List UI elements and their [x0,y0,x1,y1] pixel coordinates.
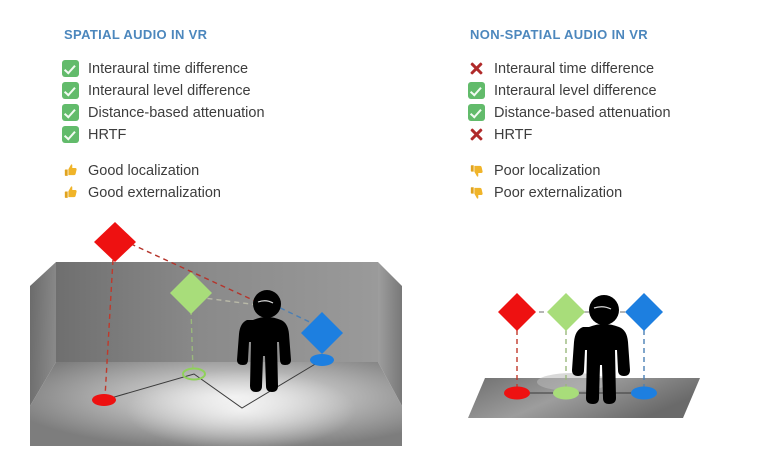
verdict-label: Poor externalization [494,185,622,201]
red-footprint [92,394,116,406]
cross-icon [468,126,485,143]
blue-footprint [310,354,334,366]
green-source-diamond [547,293,585,331]
list-item: Poor localization [468,160,622,181]
check-icon [468,82,485,99]
verdict-label: Good localization [88,163,199,179]
list-item: Good externalization [62,182,221,203]
feature-label: Interaural time difference [88,61,248,77]
feature-label: Interaural level difference [494,83,657,99]
red-source-diamond [94,222,136,262]
list-item: Interaural time difference [468,58,671,79]
non-spatial-plane-diagram [455,270,725,435]
feature-label: Interaural level difference [88,83,251,99]
thumbs-up-icon [62,162,79,179]
non-spatial-feature-list: Interaural time difference Interaural le… [468,58,671,146]
red-source-diamond [498,293,536,331]
list-item: Good localization [62,160,221,181]
list-item: Interaural level difference [468,80,671,101]
spatial-room-diagram [26,214,406,454]
spatial-verdict-list: Good localization Good externalization [62,160,221,204]
list-item: Poor externalization [468,182,622,203]
thumbs-down-icon [468,162,485,179]
list-item: Distance-based attenuation [62,102,265,123]
non-spatial-verdict-list: Poor localization Poor externalization [468,160,622,204]
check-icon [62,82,79,99]
cross-icon [468,60,485,77]
blue-source-diamond [625,293,663,331]
thumbs-up-icon [62,184,79,201]
list-item: HRTF [62,124,265,145]
check-icon [62,60,79,77]
floor-spotlight [126,370,356,450]
red-footprint [504,387,530,400]
verdict-label: Poor localization [494,163,600,179]
list-item: Interaural time difference [62,58,265,79]
spatial-feature-list: Interaural time difference Interaural le… [62,58,265,146]
list-item: Interaural level difference [62,80,265,101]
feature-label: Distance-based attenuation [88,105,265,121]
list-item: HRTF [468,124,671,145]
non-spatial-column-title: NON-SPATIAL AUDIO IN VR [470,27,648,42]
feature-label: Interaural time difference [494,61,654,77]
check-icon [62,104,79,121]
list-item: Distance-based attenuation [468,102,671,123]
blue-footprint [631,387,657,400]
check-icon [468,104,485,121]
green-footprint [553,387,579,400]
feature-label: HRTF [88,127,126,143]
verdict-label: Good externalization [88,185,221,201]
thumbs-down-icon [468,184,485,201]
check-icon [62,126,79,143]
feature-label: Distance-based attenuation [494,105,671,121]
infographic-canvas: SPATIAL AUDIO IN VR Interaural time diff… [0,0,768,464]
spatial-column-title: SPATIAL AUDIO IN VR [64,27,207,42]
feature-label: HRTF [494,127,532,143]
room-back-wall [56,262,378,362]
